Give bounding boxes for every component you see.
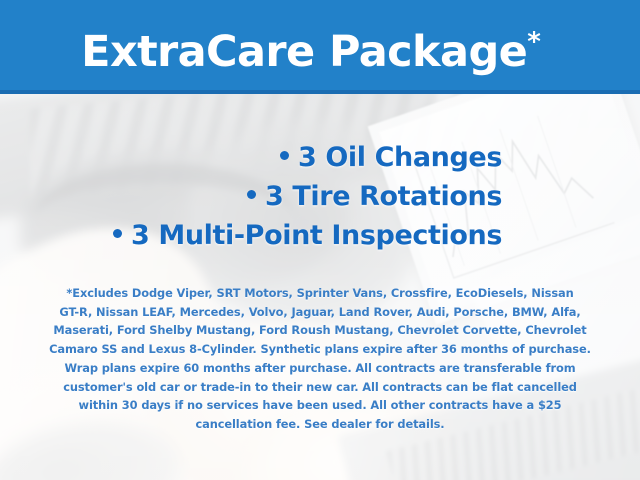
disclaimer-line: cancellation fee. See dealer for details… bbox=[32, 415, 608, 434]
bullet-dot-icon bbox=[247, 190, 256, 199]
disclaimer-line: Wrap plans expire 60 months after purcha… bbox=[32, 359, 608, 378]
bullet-dot-icon bbox=[113, 229, 122, 238]
disclaimer-text: *Excludes Dodge Viper, SRT Motors, Sprin… bbox=[32, 284, 608, 434]
bullet-dot-icon bbox=[280, 151, 289, 160]
page-title-text: ExtraCare Package bbox=[81, 27, 527, 77]
benefit-item-tire-rotations: 3 Tire Rotations bbox=[0, 177, 502, 216]
disclaimer-line: Maserati, Ford Shelby Mustang, Ford Rous… bbox=[32, 321, 608, 340]
disclaimer-line: within 30 days if no services have been … bbox=[32, 396, 608, 415]
disclaimer-line: Camaro SS and Lexus 8-Cylinder. Syntheti… bbox=[32, 340, 608, 359]
disclaimer-line: *Excludes Dodge Viper, SRT Motors, Sprin… bbox=[32, 284, 608, 303]
benefit-label: 3 Oil Changes bbox=[298, 142, 502, 173]
benefits-list: 3 Oil Changes 3 Tire Rotations 3 Multi-P… bbox=[0, 138, 640, 255]
page-title: ExtraCare Package* bbox=[0, 14, 640, 80]
benefit-item-oil-changes: 3 Oil Changes bbox=[0, 138, 502, 177]
benefit-label: 3 Tire Rotations bbox=[265, 181, 502, 212]
disclaimer-line: GT-R, Nissan LEAF, Mercedes, Volvo, Jagu… bbox=[32, 303, 608, 322]
benefit-label: 3 Multi-Point Inspections bbox=[131, 220, 502, 251]
disclaimer-line: customer's old car or trade-in to their … bbox=[32, 378, 608, 397]
header-banner: ExtraCare Package* bbox=[0, 0, 640, 94]
extracare-package-banner: ExtraCare Package* 3 Oil Changes 3 Tire … bbox=[0, 0, 640, 480]
benefit-item-multi-point-inspections: 3 Multi-Point Inspections bbox=[0, 216, 502, 255]
page-title-asterisk: * bbox=[527, 27, 541, 57]
